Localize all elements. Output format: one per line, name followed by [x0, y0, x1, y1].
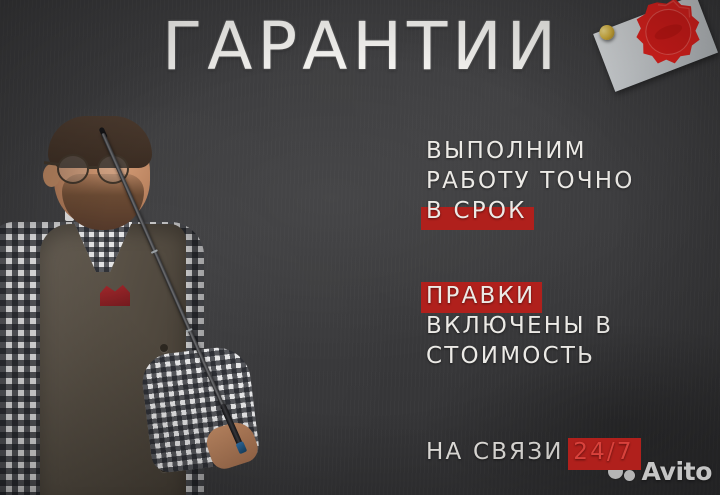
promo-poster: ГАРАНТИИ ВЫПОЛНИМ РАБОТУ ТОЧНО В СРОК ПР… — [0, 0, 720, 495]
guarantee-line: ВЫПОЛНИМ — [426, 136, 635, 166]
page-title: ГАРАНТИИ — [162, 14, 561, 80]
highlighted-text: В СРОК — [426, 196, 527, 226]
highlighted-text: 24/7 — [573, 437, 633, 467]
avito-dot — [624, 470, 635, 481]
guarantee-block-2: ПРАВКИ ВКЛЮЧЕНЫ В СТОИМОСТЬ — [426, 281, 613, 371]
glasses-bridge — [89, 166, 97, 169]
vest-button — [160, 344, 168, 352]
wax-seal-card — [582, 0, 720, 115]
guarantee-block-3: НА СВЯЗИ 24/7 — [426, 437, 634, 467]
guarantee-line: В СРОК — [426, 196, 635, 226]
guarantee-line-text: СТОИМОСТЬ — [426, 343, 595, 369]
guarantee-line: ВКЛЮЧЕНЫ В — [426, 311, 613, 341]
guarantee-line-text: ВЫПОЛНИМ — [426, 138, 587, 164]
guarantee-line-prefix: НА СВЯЗИ — [426, 439, 573, 465]
avito-wordmark: Avito — [642, 457, 712, 486]
guarantee-block-1: ВЫПОЛНИМ РАБОТУ ТОЧНО В СРОК — [426, 136, 635, 226]
guarantee-line: ПРАВКИ — [426, 281, 613, 311]
highlighted-text: ПРАВКИ — [426, 281, 535, 311]
guarantee-line: РАБОТУ ТОЧНО — [426, 166, 635, 196]
round-glasses-icon — [57, 154, 89, 184]
guarantee-line-text: ВКЛЮЧЕНЫ В — [426, 313, 613, 339]
guarantee-line: СТОИМОСТЬ — [426, 341, 613, 371]
guarantee-line-text: РАБОТУ ТОЧНО — [426, 168, 635, 194]
guarantee-line: НА СВЯЗИ 24/7 — [426, 437, 634, 467]
